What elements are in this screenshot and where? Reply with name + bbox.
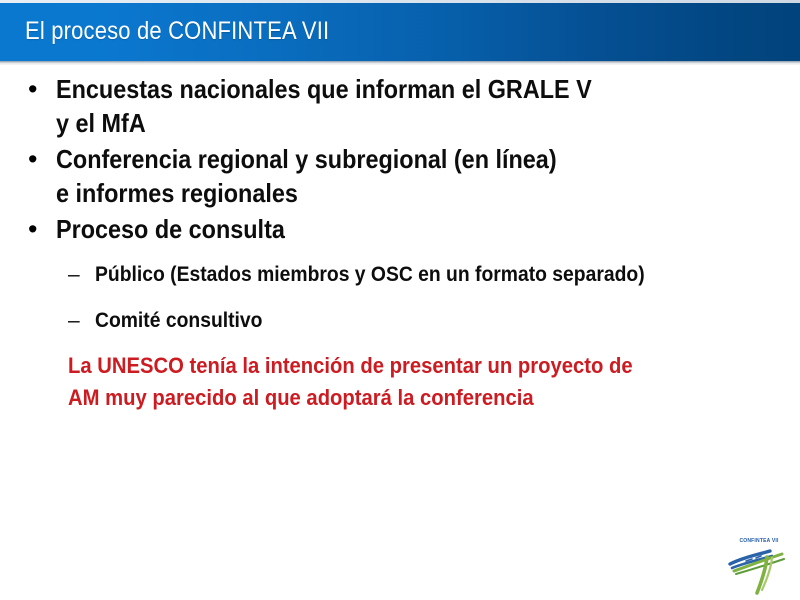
- bullet-marker-icon: •: [28, 142, 42, 176]
- slide-canvas: El proceso de CONFINTEA VII • Encuestas …: [0, 0, 800, 600]
- sub-bullet-item-2: – Comité consultivo: [0, 306, 800, 336]
- highlight-line-1: La UNESCO tenía la intención de presenta…: [68, 350, 712, 382]
- slide-body: • Encuestas nacionales que informan el G…: [0, 72, 800, 532]
- confintea-logo-mark: [726, 538, 792, 596]
- sub-bullet-item-1: – Público (Estados miembros y OSC en un …: [0, 260, 800, 290]
- bullet-item-2: • Conferencia regional y subregional (en…: [0, 142, 800, 210]
- sub-bullet-text: Público (Estados miembros y OSC en un fo…: [95, 260, 744, 290]
- bullet-item-3: • Proceso de consulta: [0, 212, 800, 246]
- slide-title-band: El proceso de CONFINTEA VII: [0, 3, 800, 61]
- highlight-note: La UNESCO tenía la intención de presenta…: [68, 350, 768, 414]
- bullet-text: Encuestas nacionales que informan el GRA…: [56, 72, 726, 140]
- title-underline-highlight: [0, 63, 800, 65]
- bullet-text: Proceso de consulta: [56, 212, 726, 246]
- dash-marker-icon: –: [68, 306, 88, 336]
- confintea-logo: CONFINTEA VII: [726, 538, 792, 596]
- sub-bullet-text: Comité consultivo: [95, 306, 744, 336]
- dash-marker-icon: –: [68, 260, 88, 290]
- slide-title: El proceso de CONFINTEA VII: [25, 17, 329, 46]
- bullet-marker-icon: •: [28, 212, 42, 246]
- bullet-text: Conferencia regional y subregional (en l…: [56, 142, 726, 210]
- confintea-logo-caption: CONFINTEA VII: [726, 538, 792, 544]
- highlight-line-2: AM muy parecido al que adoptará la confe…: [68, 382, 712, 414]
- bullet-marker-icon: •: [28, 72, 42, 106]
- bullet-item-1: • Encuestas nacionales que informan el G…: [0, 72, 800, 140]
